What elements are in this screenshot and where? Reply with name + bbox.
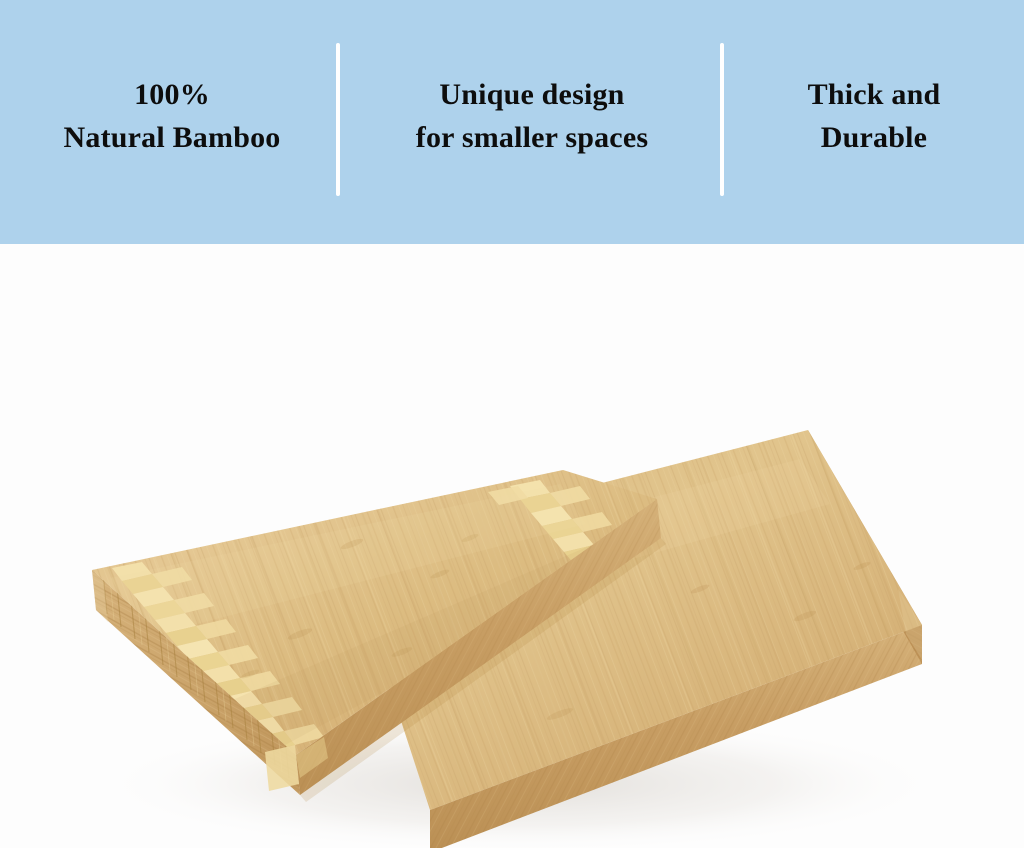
feature-line-2: for smaller spaces [348, 117, 716, 160]
feature-banner-inner: 100% Natural Bamboo Unique design for sm… [0, 0, 1024, 244]
product-photo [0, 244, 1024, 848]
banner-divider-1 [336, 43, 340, 196]
cutting-boards-illustration [0, 244, 1024, 848]
feature-item-thick-durable: Thick and Durable [730, 74, 1018, 159]
inlay-block-on-edge [265, 745, 299, 791]
feature-banner: 100% Natural Bamboo Unique design for sm… [0, 0, 1024, 244]
feature-item-natural-bamboo: 100% Natural Bamboo [14, 74, 330, 159]
feature-item-unique-design: Unique design for smaller spaces [348, 74, 716, 159]
feature-line-1: Thick and [730, 74, 1018, 117]
feature-line-1: Unique design [348, 74, 716, 117]
feature-line-1: 100% [14, 74, 330, 117]
banner-divider-2 [720, 43, 724, 196]
feature-line-2: Natural Bamboo [14, 117, 330, 160]
feature-line-2: Durable [730, 117, 1018, 160]
